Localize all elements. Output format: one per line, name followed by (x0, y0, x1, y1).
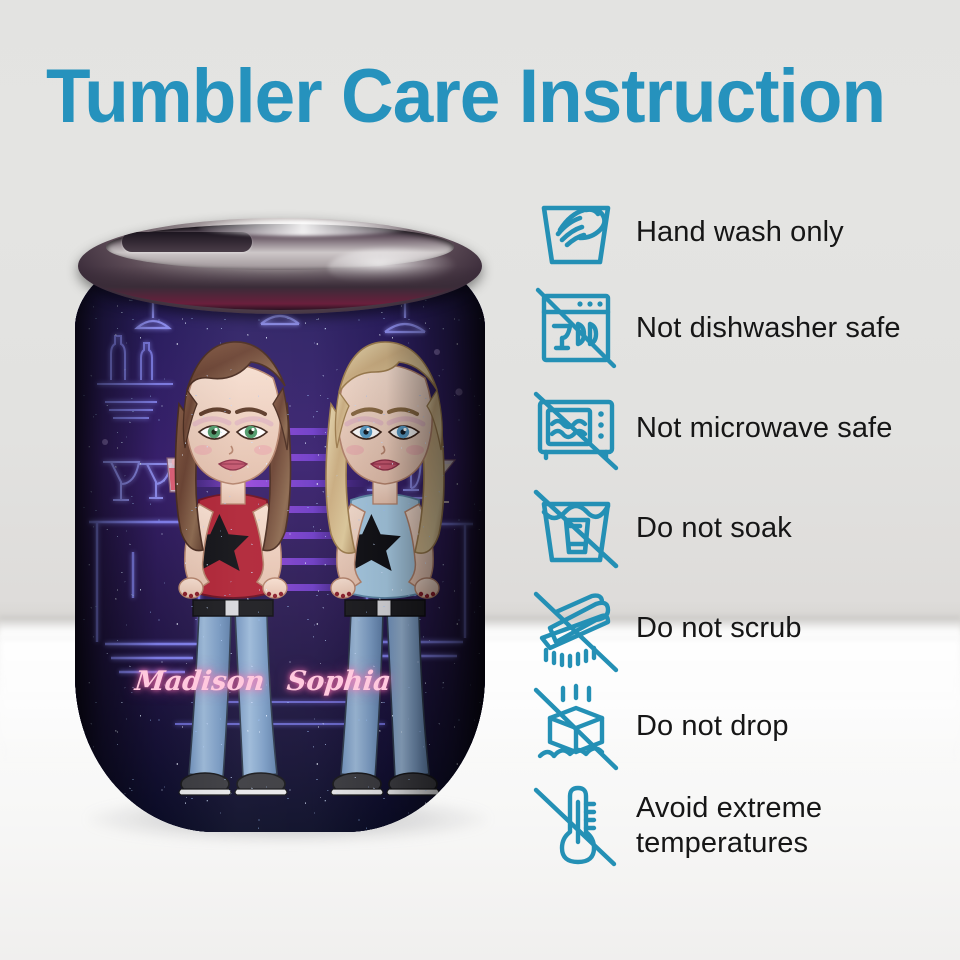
care-label-no-drop: Do not drop (636, 709, 789, 743)
care-row-no-drop: Do not drop (530, 680, 789, 772)
care-label-hand-wash: Hand wash only (636, 215, 844, 249)
care-row-no-microwave: Not microwave safe (530, 382, 892, 474)
care-instruction-graphic: Tumbler Care Instruction (0, 0, 960, 960)
personalized-name-left: Madison (133, 666, 266, 697)
lid-sip-slot (122, 232, 252, 252)
cylinder-shading (75, 232, 485, 832)
product-image-tumbler: Madison Sophia (30, 210, 530, 890)
care-row-no-scrub: Do not scrub (530, 582, 802, 674)
care-label-no-scrub: Do not scrub (636, 611, 802, 645)
page-title: Tumbler Care Instruction (46, 57, 900, 137)
no-drop-icon (530, 680, 622, 772)
lid-highlight (198, 220, 408, 236)
care-label-no-soak: Do not soak (636, 511, 792, 545)
care-row-no-soak: Do not soak (530, 482, 792, 574)
care-label-no-extreme-temperature: Avoid extreme temperatures (636, 791, 822, 861)
care-label-line-1: Avoid extreme (636, 791, 822, 826)
care-label-no-microwave: Not microwave safe (636, 411, 892, 445)
personalized-name-right: Sophia (285, 666, 392, 697)
no-dishwasher-icon (530, 282, 622, 374)
no-scrub-icon (530, 582, 622, 674)
no-extreme-temperature-icon (530, 780, 622, 872)
tumbler-body: Madison Sophia (75, 232, 485, 832)
care-label-line-2: temperatures (636, 826, 822, 861)
care-row-no-dishwasher: Not dishwasher safe (530, 282, 901, 374)
care-row-hand-wash: Hand wash only (530, 186, 844, 278)
care-row-no-extreme-temperature: Avoid extreme temperatures (530, 780, 822, 872)
no-soak-icon (530, 482, 622, 574)
care-label-no-dishwasher: Not dishwasher safe (636, 311, 901, 345)
hand-wash-icon (530, 186, 622, 278)
no-microwave-icon (530, 382, 622, 474)
